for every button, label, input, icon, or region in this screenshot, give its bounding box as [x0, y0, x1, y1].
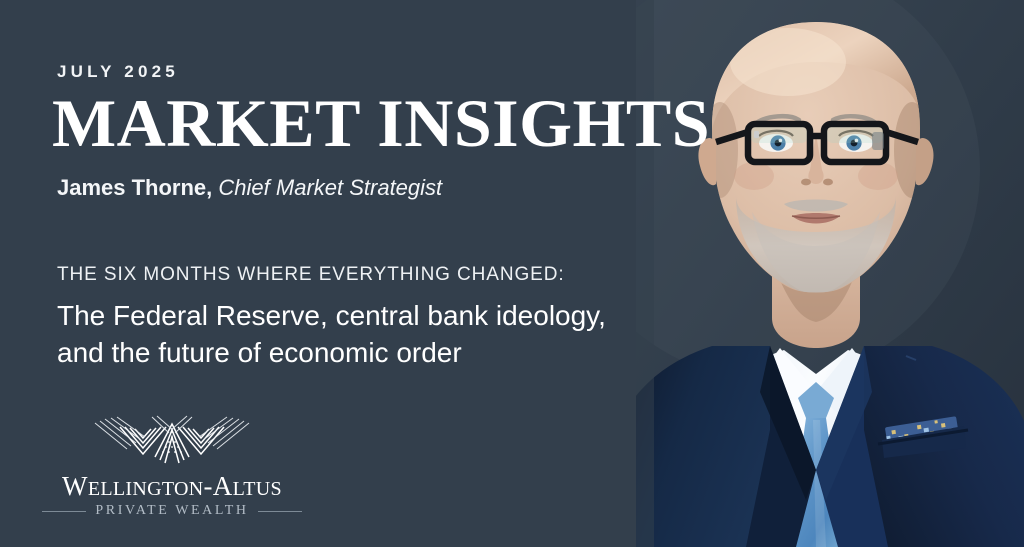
logo-wordmark-hyphen-a: -A [203, 471, 232, 501]
logo-rule-left [42, 511, 86, 512]
feature-headline-line-1: The Federal Reserve, central bank ideolo… [57, 297, 606, 334]
feature-headline: The Federal Reserve, central bank ideolo… [57, 297, 606, 371]
logo-rule-right [258, 511, 302, 512]
wellington-altus-w-monogram [57, 413, 287, 471]
feature-headline-line-2: and the future of economic order [57, 334, 606, 371]
logo-tagline-row: PRIVATE WEALTH [57, 503, 287, 519]
author-role: Chief Market Strategist [218, 175, 442, 200]
logo-wordmark: WELLINGTON-ALTUS [57, 472, 287, 500]
logo-wordmark-rest: ELLINGTON [88, 478, 204, 500]
wellington-altus-logo: WELLINGTON-ALTUS PRIVATE WEALTH [57, 413, 287, 519]
page-title: MARKET INSIGHTS [52, 89, 710, 157]
issue-date: JULY 2025 [57, 62, 179, 82]
market-insights-cover: JULY 2025 MARKET INSIGHTS James Thorne, … [0, 0, 1024, 547]
logo-wordmark-tail: LTUS [233, 478, 282, 500]
byline: James Thorne, Chief Market Strategist [57, 175, 442, 201]
logo-tagline: PRIVATE WEALTH [95, 503, 248, 519]
logo-wordmark-w: W [62, 471, 88, 501]
feature-kicker: THE SIX MONTHS WHERE EVERYTHING CHANGED: [57, 264, 565, 286]
author-name: James Thorne, [57, 175, 212, 200]
james-thorne-portrait [620, 0, 1024, 547]
